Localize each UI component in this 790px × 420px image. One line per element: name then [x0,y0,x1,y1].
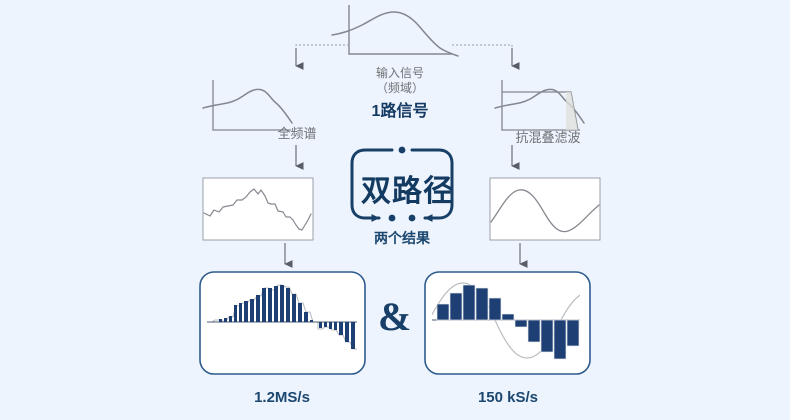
bottom-panel-left [200,272,371,374]
ampersand-conjunction: & [378,297,411,337]
rate-label-right: 150 kS/s [448,389,568,408]
bracket-dot-right [409,215,416,222]
bracket-dot-left [389,215,396,222]
antialias-filter-plot [495,80,584,130]
rate-label-left: 1.2MS/s [222,389,342,408]
full-spectrum-plot [203,80,292,130]
bracket-dot-top [399,147,406,154]
bottom-panel-right [425,272,591,374]
full-spectrum-label: 全频谱 [232,126,362,142]
noisy-waveform-box [203,178,313,240]
input-signal-caption: 输入信号 （频域） [340,66,460,96]
dual-path-title: 双路径 [361,166,445,210]
diagram-graphics [0,0,790,420]
input-signal-caption-line1: 输入信号 [340,66,460,81]
input-signal-caption-line2: （频域） [340,81,460,96]
two-results-label: 两个结果 [352,230,452,248]
antialias-filter-label: 抗混叠滤波 [483,130,613,146]
sine-waveform-box [490,178,600,240]
input-spectrum-plot [332,5,458,56]
split-connector-lines [296,45,512,66]
diagram-canvas: 输入信号 （频域） 1路信号 全频谱 抗混叠滤波 双路径 两个结果 & 1.2M… [0,0,790,420]
input-signal-count: 1路信号 [340,102,460,122]
